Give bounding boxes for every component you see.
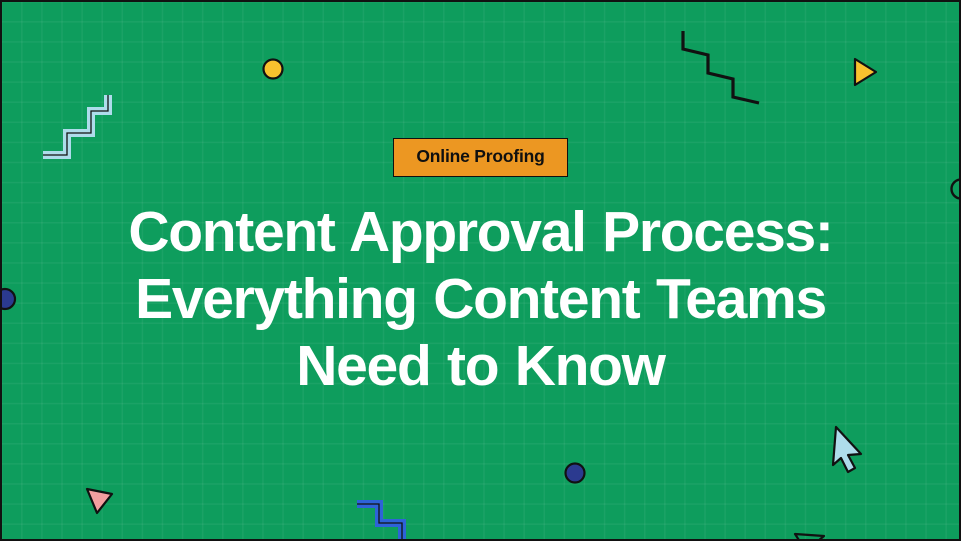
- page-title-line-1: Content Approval Process:: [71, 199, 891, 266]
- slide-canvas: Online Proofing Content Approval Process…: [0, 0, 961, 541]
- category-badge: Online Proofing: [393, 138, 567, 177]
- slide-content: Online Proofing Content Approval Process…: [2, 2, 959, 539]
- page-title-line-2: Everything Content Teams: [71, 266, 891, 333]
- page-title-line-3: Need to Know: [71, 333, 891, 400]
- page-title: Content Approval Process: Everything Con…: [71, 199, 891, 401]
